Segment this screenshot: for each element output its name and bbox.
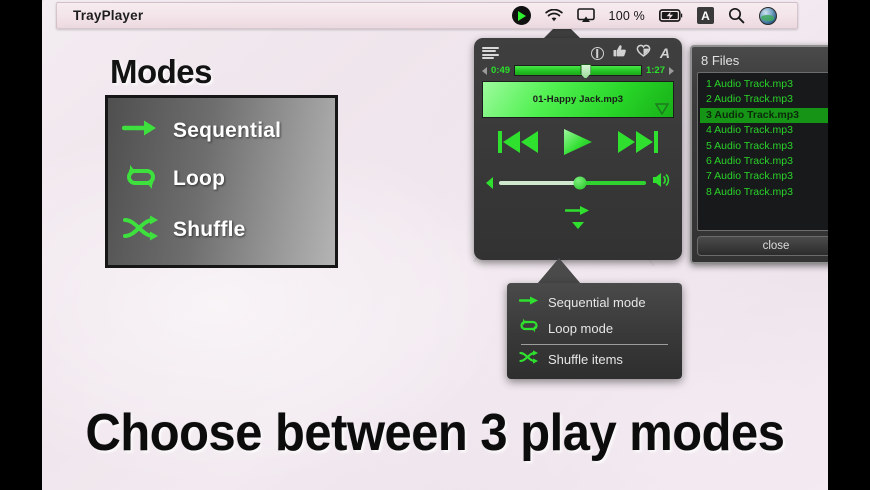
- player-top-bar: A: [482, 44, 674, 62]
- battery-charging-icon[interactable]: [659, 9, 683, 22]
- play-mode-indicator[interactable]: [482, 203, 674, 229]
- volume-max-icon[interactable]: [652, 172, 670, 193]
- progress-row: 0:49 1:27: [482, 65, 674, 76]
- menu-divider: [521, 344, 668, 345]
- mac-menu-bar: TrayPlayer: [56, 2, 798, 29]
- mode-menu-pointer: [537, 258, 581, 284]
- list-item[interactable]: 5 Audio Track.mp3: [700, 139, 828, 154]
- menu-label-shuffle-items: Shuffle items: [548, 352, 623, 367]
- playlist-file-count: 8 Files: [697, 51, 828, 72]
- track-display[interactable]: 01-Happy Jack.mp3: [482, 81, 674, 118]
- menu-item-sequential-mode[interactable]: Sequential mode: [507, 290, 682, 314]
- screenshot-root: TrayPlayer: [0, 0, 870, 490]
- list-item[interactable]: 1 Audio Track.mp3: [700, 77, 828, 92]
- list-item[interactable]: 8 Audio Track.mp3: [700, 185, 828, 200]
- loop-icon: [122, 163, 160, 196]
- list-item[interactable]: 4 Audio Track.mp3: [700, 123, 828, 138]
- menu-label-sequential-mode: Sequential mode: [548, 295, 646, 310]
- progress-bar[interactable]: [514, 65, 642, 76]
- player-top-icons: A: [591, 44, 674, 63]
- list-item[interactable]: 6 Audio Track.mp3: [700, 154, 828, 169]
- tray-play-icon[interactable]: [512, 6, 531, 25]
- previous-button[interactable]: [498, 128, 540, 161]
- heart-icon[interactable]: [636, 44, 651, 62]
- volume-min-icon[interactable]: [486, 177, 493, 189]
- chevron-down-icon[interactable]: [572, 222, 584, 229]
- elapsed-time: 0:49: [491, 65, 510, 76]
- play-button[interactable]: [561, 127, 595, 162]
- list-item[interactable]: 7 Audio Track.mp3: [700, 169, 828, 184]
- total-time: 1:27: [646, 65, 665, 76]
- thumbs-up-icon[interactable]: [613, 44, 627, 63]
- transport-controls: [482, 127, 674, 162]
- menu-item-loop-mode[interactable]: Loop mode: [507, 316, 682, 340]
- legend-label-loop: Loop: [173, 167, 225, 191]
- next-button[interactable]: [616, 128, 658, 161]
- legend-row-shuffle: Shuffle: [122, 215, 335, 246]
- menu-bar-status-items: 100 % A: [512, 6, 797, 25]
- track-name-label: 01-Happy Jack.mp3: [533, 94, 623, 105]
- hamburger-list-icon[interactable]: [482, 47, 499, 59]
- letter-a-icon[interactable]: A: [660, 46, 670, 60]
- menu-label-loop-mode: Loop mode: [548, 321, 613, 336]
- modes-legend-panel: Sequential Loop: [105, 95, 338, 268]
- arrow-right-icon: [122, 117, 160, 144]
- list-item[interactable]: 3 Audio Track.mp3: [700, 108, 828, 123]
- loop-icon: [519, 318, 539, 338]
- spotlight-globe-icon[interactable]: [759, 7, 777, 25]
- app-title: TrayPlayer: [73, 8, 143, 23]
- close-button[interactable]: close: [697, 236, 828, 256]
- arrow-right-icon: [519, 293, 539, 311]
- volume-knob[interactable]: [573, 176, 586, 189]
- progress-knob[interactable]: [580, 64, 591, 79]
- tray-player-window: A 0:49 1:27 01-Happy Jack.mp3: [474, 38, 682, 260]
- playlist-window: 8 Files 1 Audio Track.mp3 2 Audio Track.…: [690, 45, 828, 264]
- caption-text: Choose between 3 play modes: [66, 403, 805, 463]
- play-mode-menu: Sequential mode Loop mode: [507, 283, 682, 379]
- airplay-icon[interactable]: [577, 8, 595, 23]
- letterbox-right: [828, 0, 870, 490]
- legend-row-sequential: Sequential: [122, 117, 335, 144]
- shuffle-icon: [519, 350, 539, 369]
- playlist-track-list[interactable]: 1 Audio Track.mp3 2 Audio Track.mp3 3 Au…: [697, 72, 828, 231]
- volume-row: [482, 172, 674, 193]
- legend-label-sequential: Sequential: [173, 119, 281, 143]
- list-item[interactable]: 2 Audio Track.mp3: [700, 92, 828, 107]
- modes-legend-title: Modes: [110, 53, 212, 91]
- search-icon[interactable]: [728, 7, 745, 24]
- menu-item-shuffle-items[interactable]: Shuffle items: [507, 348, 682, 372]
- letter-a-icon[interactable]: A: [697, 7, 714, 24]
- progress-left-arrow-icon: [482, 67, 487, 75]
- track-dropdown-caret-icon[interactable]: [655, 103, 669, 114]
- progress-right-arrow-icon: [669, 67, 674, 75]
- volume-slider[interactable]: [499, 181, 646, 185]
- shuffle-icon: [122, 215, 160, 246]
- wifi-icon[interactable]: [545, 9, 563, 23]
- legend-row-loop: Loop: [122, 163, 335, 196]
- battery-percent-label: 100 %: [609, 9, 645, 23]
- input-source-label: A: [697, 7, 714, 24]
- info-circle-icon[interactable]: [591, 47, 604, 60]
- arrow-right-icon: [565, 203, 591, 221]
- app-content-area: TrayPlayer: [42, 0, 828, 490]
- legend-label-shuffle: Shuffle: [173, 218, 246, 242]
- letterbox-left: [0, 0, 42, 490]
